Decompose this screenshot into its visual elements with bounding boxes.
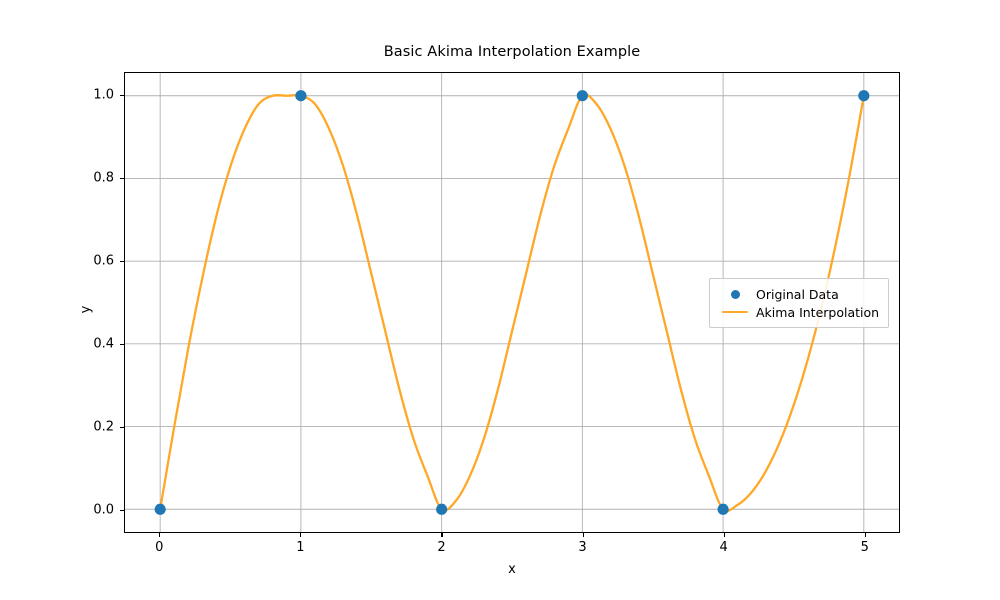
matplotlib-figure: Basic Akima Interpolation Example 012345… — [0, 0, 1000, 600]
x-tick-mark — [724, 533, 725, 537]
line-marker-icon — [718, 303, 752, 321]
y-tick-mark — [120, 95, 124, 96]
x-tick-label: 2 — [437, 540, 445, 555]
page-title: Basic Akima Interpolation Example — [124, 44, 900, 60]
y-tick-label: 0.4 — [93, 337, 114, 352]
x-tick-label: 0 — [155, 540, 163, 555]
x-tick-label: 3 — [578, 540, 586, 555]
data-point-marker — [155, 504, 166, 515]
y-tick-mark — [120, 261, 124, 262]
circle-marker-icon — [718, 285, 752, 303]
y-tick-mark — [120, 178, 124, 179]
y-tick-label: 0.6 — [93, 253, 114, 268]
x-tick-label: 5 — [861, 540, 869, 555]
x-tick-mark — [865, 533, 866, 537]
y-tick-mark — [120, 344, 124, 345]
data-point-marker — [718, 504, 729, 515]
x-tick-mark — [300, 533, 301, 537]
legend-label-original-data: Original Data — [752, 287, 839, 302]
y-tick-label: 0.0 — [93, 503, 114, 518]
x-tick-mark — [583, 533, 584, 537]
x-axis-label: x — [124, 562, 900, 577]
legend-item-original-data: Original Data — [718, 285, 879, 303]
legend-label-akima-interpolation: Akima Interpolation — [752, 305, 879, 320]
y-tick-mark — [120, 510, 124, 511]
data-point-marker — [295, 90, 306, 101]
y-tick-mark — [120, 427, 124, 428]
x-tick-label: 1 — [296, 540, 304, 555]
legend: Original Data Akima Interpolation — [709, 278, 889, 328]
y-tick-label: 0.8 — [93, 170, 114, 185]
x-tick-mark — [159, 533, 160, 537]
x-tick-mark — [441, 533, 442, 537]
y-axis-label: y — [79, 290, 94, 330]
data-point-marker — [577, 90, 588, 101]
data-point-marker — [858, 90, 869, 101]
legend-item-akima-interpolation: Akima Interpolation — [718, 303, 879, 321]
y-tick-label: 0.2 — [93, 420, 114, 435]
data-point-marker — [436, 504, 447, 515]
y-tick-label: 1.0 — [93, 87, 114, 102]
x-tick-label: 4 — [719, 540, 727, 555]
